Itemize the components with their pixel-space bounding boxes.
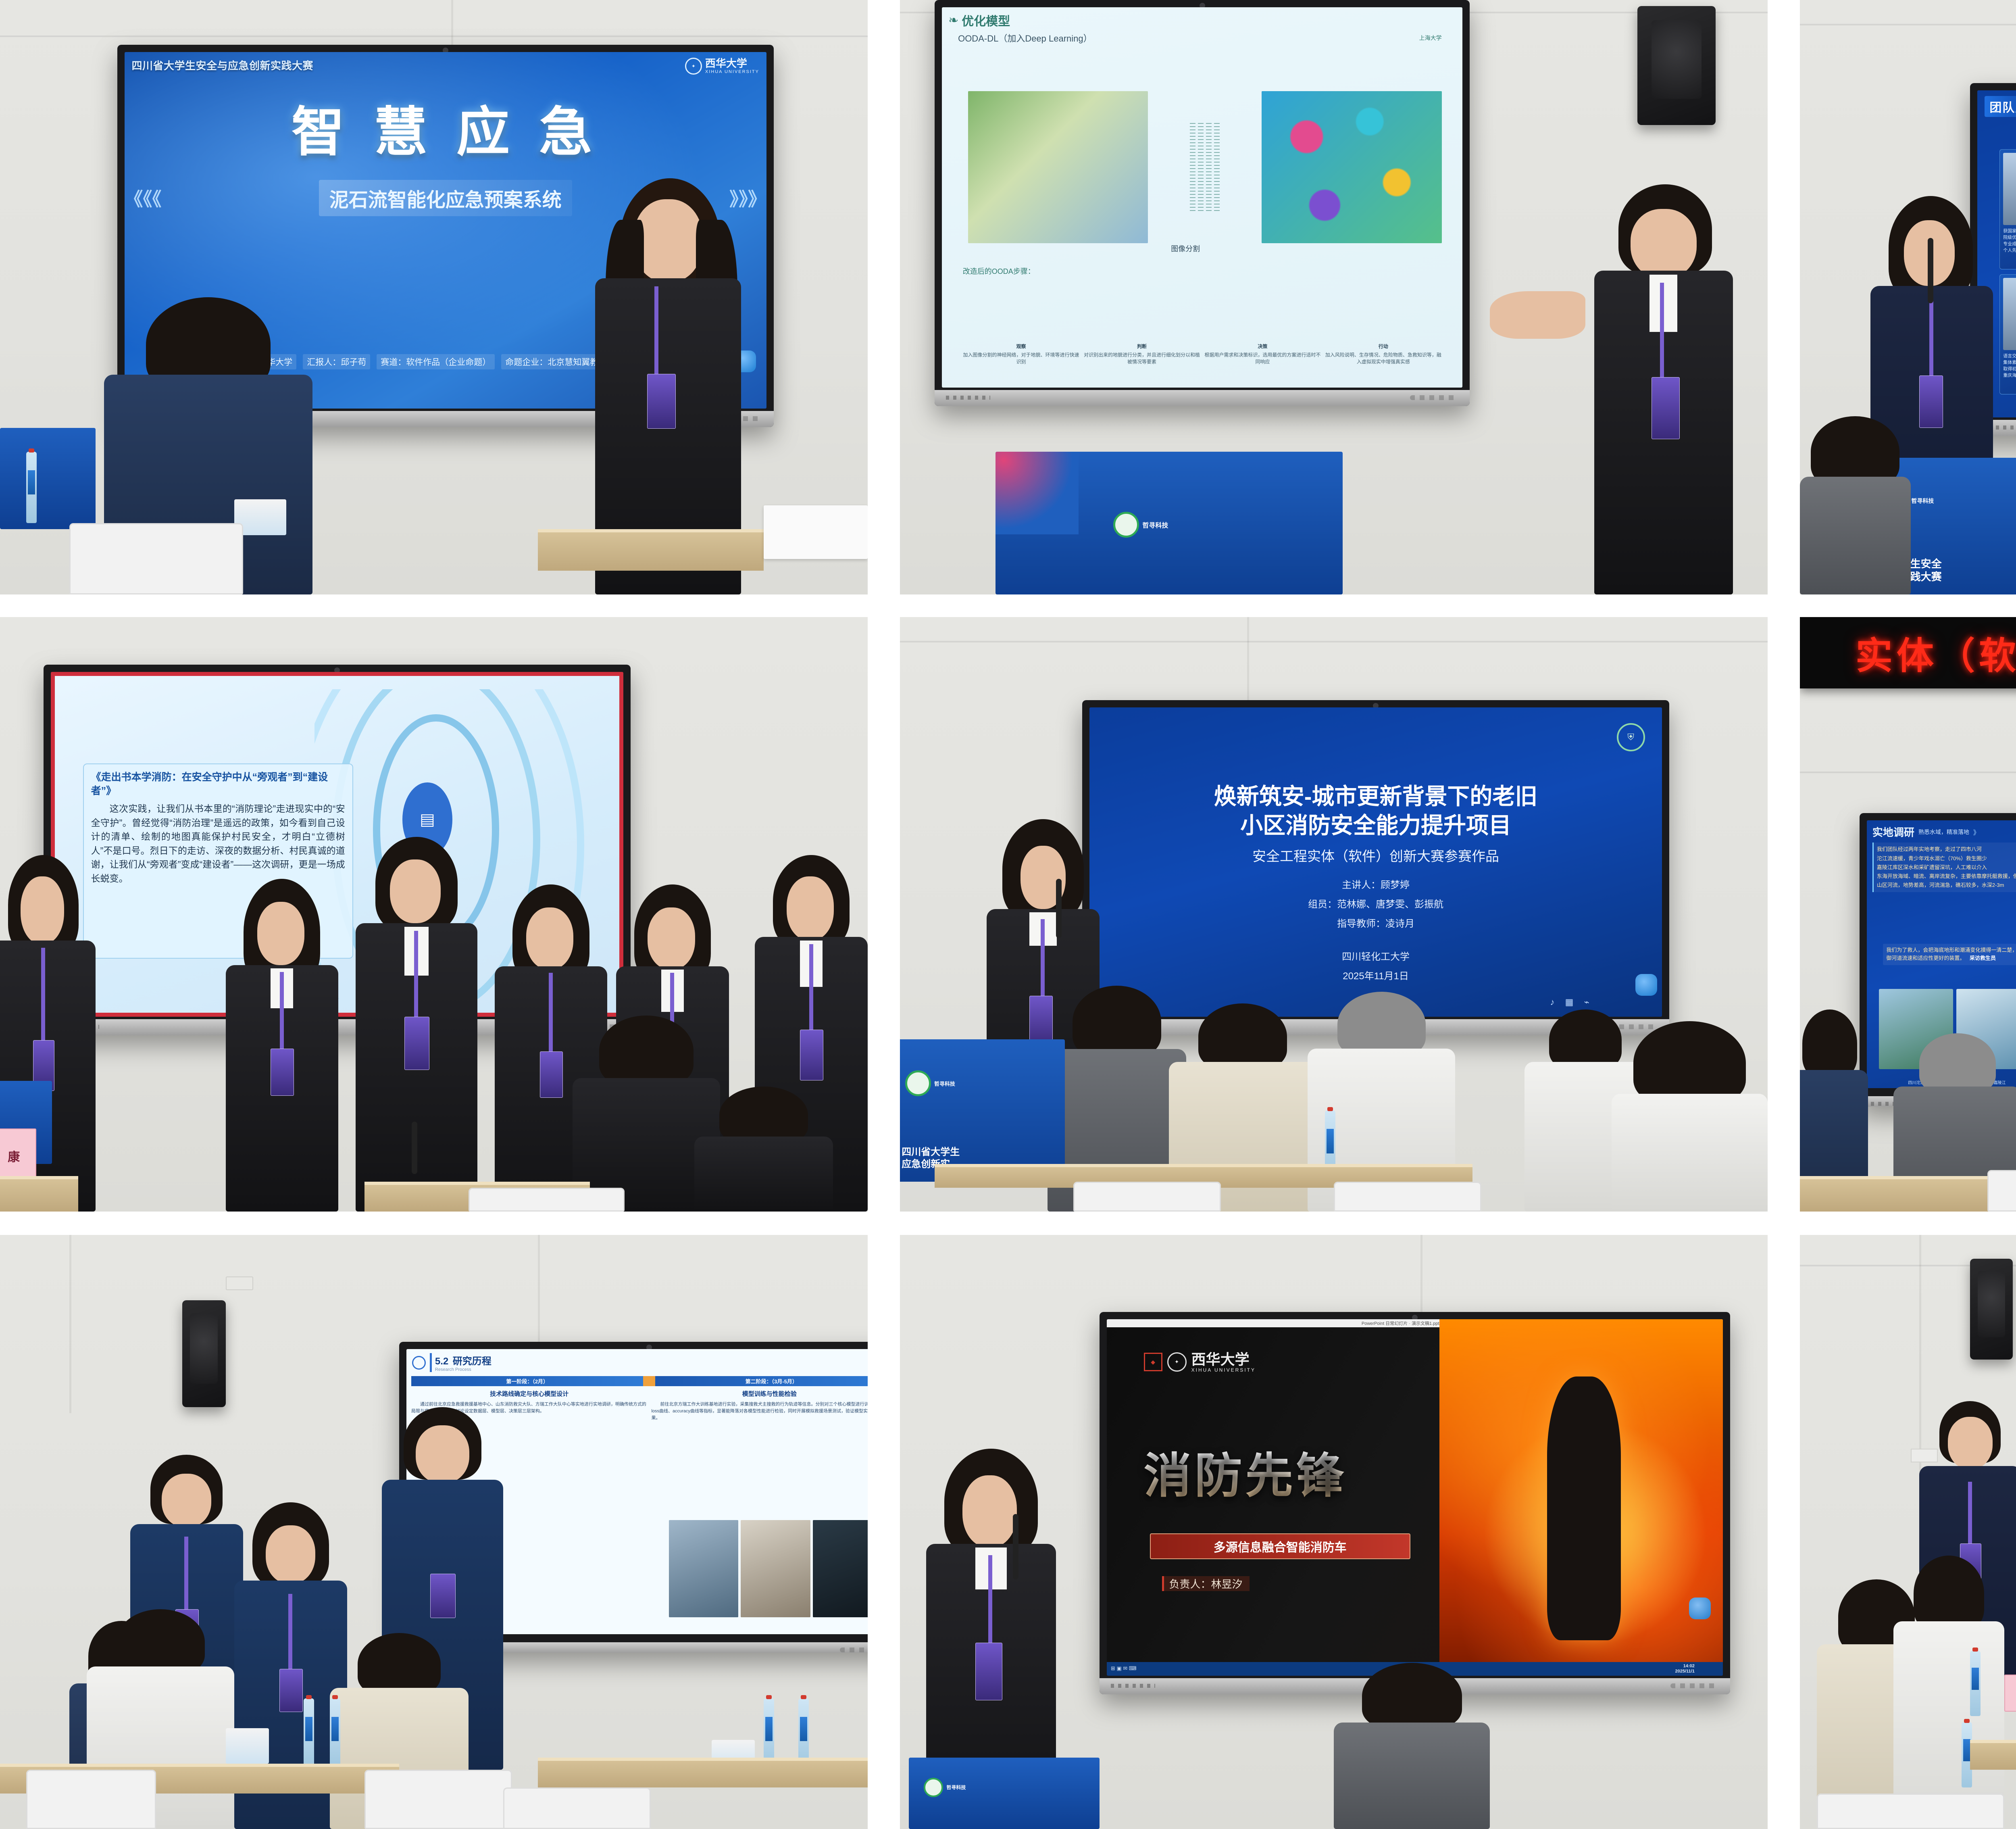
home-button-icon[interactable] bbox=[1635, 974, 1657, 996]
wall-socket bbox=[226, 1276, 254, 1290]
sponsor-name: 哲寻科技 bbox=[946, 1784, 966, 1791]
step-text: 对识别出来的地貌进行分类，并且进行细化划分以和植被情况等要素 bbox=[1083, 351, 1200, 365]
step-label: 行动 bbox=[1325, 343, 1441, 350]
name-card: 康 bbox=[0, 1128, 36, 1184]
interactive-whiteboard[interactable]: ⛨ 焕新筑安-城市更新背景下的老旧 小区消防安全能力提升项目 安全工程实体（软件… bbox=[1082, 700, 1669, 1035]
slide-title: 优化模型 bbox=[962, 11, 1010, 29]
slide-band: 多源信息融合智能消防车 bbox=[1150, 1533, 1410, 1559]
logo-name-cn: 西华大学 bbox=[705, 58, 759, 69]
photo-fire-pioneer: PowerPoint 日常幻灯片 · 演示文稿1.pptx - PowerPoi… bbox=[900, 1235, 1768, 1829]
participant-badge bbox=[647, 374, 676, 429]
audience-back bbox=[1334, 1663, 1490, 1829]
slide-title-line1: 焕新筑安-城市更新背景下的老旧 bbox=[1089, 782, 1662, 811]
slide-kicker: 四川省大学生安全与应急创新实践大赛 bbox=[132, 58, 314, 73]
member-card: 钟丽姿 产品总负责人 获国家励志奖学金 院级优秀共青团员 专业成绩前3% 个人先… bbox=[1999, 149, 2016, 269]
chevron-left-icon: 《《《 bbox=[125, 185, 162, 211]
participant-badge bbox=[1652, 377, 1680, 440]
logo-name-en: XIHUA UNIVERSITY bbox=[1191, 1368, 1256, 1373]
step-label: 观察 bbox=[963, 343, 1079, 350]
section-number: 5.2 bbox=[435, 1356, 448, 1367]
desk bbox=[538, 529, 764, 571]
participant-badge bbox=[540, 1051, 563, 1098]
collage-cell-9[interactable]: 四川省大学生安全与应急创新实践大赛 四川省大学生安全与应急创新实践大赛 应急先锋… bbox=[1784, 1220, 2016, 1829]
member-card: 李睿齐 市场负责人 语言交流能力突出 集体素质良好经验 取得初级会计师证 重庆海… bbox=[1999, 274, 2016, 394]
water-bottle bbox=[26, 452, 37, 523]
research-bullet: 沱江流速缓，青少年戏水溺亡（70%）救生圈少 bbox=[1877, 854, 2016, 863]
wall-speaker bbox=[182, 1300, 226, 1407]
aerial-photo bbox=[968, 91, 1148, 243]
judge-back bbox=[694, 1087, 833, 1212]
university-logo: ✦ 西华大学 XIHUA UNIVERSITY bbox=[685, 58, 759, 75]
slide-owner: 负责人：林昱汐 bbox=[1162, 1576, 1250, 1591]
logo-name-cn: 西华大学 bbox=[1191, 1351, 1256, 1368]
water-bottle bbox=[1970, 1651, 1981, 1716]
presenter-hand bbox=[1490, 291, 1585, 339]
collage-cell-4[interactable]: ▤ 《走出书本学消防：在安全守护中从“旁观者”到“建设者”》 这次实践，让我们从… bbox=[0, 610, 884, 1220]
chair bbox=[26, 1770, 156, 1829]
participant-badge bbox=[279, 1669, 303, 1712]
photo-collage: 四川省大学生安全与应急创新实践大赛 ✦ 西华大学 XIHUA UNIVERSIT… bbox=[0, 0, 2016, 1829]
collage-cell-3[interactable]: 团队成员 跨校多学科交叉融合，团队各展所长 ▣ 钟丽姿 产品总负责人 获国家励志… bbox=[1784, 0, 2016, 610]
chair bbox=[364, 1770, 512, 1829]
collage-cell-6[interactable]: 实体（软件）创新自选命题作品决赛答辩 实地调研 熟悉水域，精准落地 》 项目背景… bbox=[1784, 610, 2016, 1220]
slide-chip: 团队成员 bbox=[1985, 96, 2016, 117]
member-bullet: 语言交流能力突出 bbox=[2003, 352, 2016, 359]
microphone[interactable] bbox=[1928, 238, 1933, 303]
photo-research-process: 5.2 研究历程 Research Process 第一阶段：（2月） 第二阶段… bbox=[0, 1235, 868, 1829]
student bbox=[356, 837, 477, 1212]
wall-speaker bbox=[1970, 1259, 2013, 1360]
chair bbox=[469, 1188, 625, 1212]
member-bullet: 重庆海康威视科技有限公司实习经历 bbox=[2003, 372, 2016, 378]
photo-team-qa: ▤ 《走出书本学消防：在安全守护中从“旁观者”到“建设者”》 这次实践，让我们从… bbox=[0, 617, 868, 1212]
university-seal-icon: ⛨ bbox=[1617, 723, 1645, 751]
step-label: 判断 bbox=[1083, 343, 1200, 350]
diagram-caption: 图像分割 bbox=[1171, 243, 1200, 254]
process-photos bbox=[669, 1520, 868, 1617]
research-bullet: 东海开放海域、暗流、离岸流复杂，主要依靠摩托艇救援，但得依赖天气 bbox=[1877, 872, 2016, 881]
microphone[interactable] bbox=[1056, 879, 1062, 938]
microphone[interactable] bbox=[412, 1122, 417, 1174]
neural-network-diagram bbox=[1153, 108, 1257, 226]
green-seal-icon bbox=[905, 1070, 931, 1096]
slide-meta-presenter: 汇报人：邱子苟 bbox=[303, 354, 370, 369]
essay-body: 这次实践，让我们从书本里的“消防理论”走进现实中的“安全守护”。曾经觉得“消防治… bbox=[91, 802, 345, 885]
presentation-screen: ⛨ 焕新筑安-城市更新背景下的老旧 小区消防安全能力提升项目 安全工程实体（软件… bbox=[1089, 707, 1662, 1016]
phase-label: 第一阶段：（2月） bbox=[411, 1376, 644, 1386]
desk bbox=[1970, 1740, 2016, 1770]
segmentation-photo bbox=[1262, 91, 1441, 243]
chair bbox=[69, 523, 243, 594]
member-bullet: 取得初级会计师证 bbox=[2003, 365, 2016, 372]
sponsor-name: 哲寻科技 bbox=[1142, 520, 1168, 530]
member-bullet: 个人先进奖和优秀组织奖 bbox=[2003, 247, 2016, 253]
member-bullet: 获国家励志奖学金 bbox=[2003, 227, 2016, 234]
audience-back bbox=[1612, 1021, 1768, 1212]
step-text: 根据用户需求和决策标识，选用最优的方案进行适时不同响应 bbox=[1204, 351, 1321, 365]
sponsor-name: 哲寻科技 bbox=[934, 1080, 955, 1087]
university-seal-icon bbox=[412, 1356, 426, 1370]
participant-badge bbox=[800, 1030, 823, 1080]
seal-icon: ✦ bbox=[685, 58, 702, 75]
slide-title-line2: 小区消防安全能力提升项目 bbox=[1089, 811, 1662, 840]
slide-members: 组员：范林娜、唐梦雯、彭振航 bbox=[1089, 895, 1662, 914]
chair bbox=[503, 1787, 651, 1829]
logo-name-en: XIHUA UNIVERSITY bbox=[705, 69, 759, 74]
participant-badge bbox=[404, 1017, 429, 1070]
presenter bbox=[1577, 184, 1750, 594]
desk bbox=[1800, 1176, 2016, 1212]
photo-team-members: 团队成员 跨校多学科交叉融合，团队各展所长 ▣ 钟丽姿 产品总负责人 获国家励志… bbox=[1800, 0, 2016, 594]
water-bottle bbox=[330, 1698, 340, 1770]
member-photo bbox=[2003, 278, 2016, 350]
slide-title: 实地调研 bbox=[1872, 824, 1914, 839]
home-button-icon[interactable] bbox=[1689, 1598, 1711, 1619]
photo-smart-emergency: 四川省大学生安全与应急创新实践大赛 ✦ 西华大学 XIHUA UNIVERSIT… bbox=[0, 0, 868, 594]
audience-back bbox=[1893, 1556, 2004, 1829]
phase-text: 前往北京方瑞工作大训练基地进行实验，采集搜救犬主搜救的行为轨迹等信息。分别对三个… bbox=[651, 1401, 868, 1422]
slide-main-title: 智 慧 应 急 bbox=[125, 89, 766, 166]
interactive-whiteboard[interactable]: ❧ 优化模型 OODA-DL（加入Deep Learning） 上海大学 图像分… bbox=[935, 0, 1470, 406]
collage-cell-7[interactable]: 5.2 研究历程 Research Process 第一阶段：（2月） 第二阶段… bbox=[0, 1220, 884, 1829]
chair bbox=[1817, 1794, 2004, 1829]
tissue-box bbox=[226, 1728, 269, 1764]
presentation-screen: ❧ 优化模型 OODA-DL（加入Deep Learning） 上海大学 图像分… bbox=[942, 7, 1462, 388]
photo-police-cadets: 四川省大学生安全与应急创新实践大赛 四川省大学生安全与应急创新实践大赛 应急先锋… bbox=[1800, 1235, 2016, 1829]
participant-badge bbox=[271, 1049, 294, 1096]
collage-cell-2[interactable]: ❧ 优化模型 OODA-DL（加入Deep Learning） 上海大学 图像分… bbox=[884, 0, 1784, 610]
firefighter-photo bbox=[1547, 1376, 1621, 1640]
essay-title: 《走出书本学消防：在安全守护中从“旁观者”到“建设者”》 bbox=[91, 771, 345, 798]
slide-main-title: 消防先锋 bbox=[1144, 1437, 1347, 1506]
green-seal-icon bbox=[1113, 512, 1139, 538]
slide-advisor: 指导教师：凌诗月 bbox=[1089, 914, 1662, 934]
desk bbox=[0, 1176, 78, 1212]
slide-subtitle: 泥石流智能化应急预案系统 bbox=[319, 180, 572, 216]
slide-presenter: 主讲人：顾梦婷 bbox=[1089, 876, 1662, 895]
documents bbox=[764, 505, 868, 559]
research-bullet: 嘉陵江库区深水和采矿遗留深坑，人工难以介入 bbox=[1877, 863, 2016, 872]
interview-source: 采访救生员 bbox=[1970, 955, 1996, 961]
presentation-screen: PowerPoint 日常幻灯片 · 演示文稿1.pptx - PowerPoi… bbox=[1107, 1319, 1723, 1676]
audience-back bbox=[1800, 416, 1911, 594]
fire-background bbox=[1439, 1319, 1723, 1676]
participant-badge bbox=[1919, 375, 1943, 428]
member-bullet: 专业成绩前3% bbox=[2003, 240, 2016, 247]
phase-heading: 技术路线确定与核心模型设计 bbox=[411, 1389, 648, 1399]
status-icons: ♪ ▦ ⌁ bbox=[1550, 997, 1593, 1007]
university-seal-icon: ✦ bbox=[1167, 1352, 1187, 1372]
stage-banner-board: 哲寻科技 bbox=[996, 452, 1343, 594]
step-text: 加入图像分割的神经网络，对于地貌、环境等进行快速识别 bbox=[963, 351, 1079, 365]
stage-banner-board: 哲寻科技 四川省大学生应急创新实 bbox=[900, 1039, 1065, 1182]
interview-quote: 我们为了救人，会把海底地形和潮涌变化摸得一清二楚，真的很需要一款更智能、能更好抵… bbox=[1886, 947, 2016, 961]
taskbar-time: 14:02 bbox=[1683, 1664, 1695, 1668]
name-card: 评委席 bbox=[2004, 1675, 2016, 1712]
step-text: 加入风险说明、生存情况、危险物质、急救知识等，融入虚拟现实中增强真实感 bbox=[1325, 351, 1441, 365]
green-seal-icon bbox=[924, 1778, 943, 1797]
chair bbox=[1987, 1170, 2016, 1212]
participant-badge bbox=[430, 1574, 455, 1618]
chair bbox=[1073, 1182, 1221, 1212]
slide-subtitle: OODA-DL（加入Deep Learning） bbox=[942, 29, 1462, 44]
phase-label: 第二阶段：（3月-5月） bbox=[655, 1376, 868, 1386]
interactive-whiteboard[interactable]: PowerPoint 日常幻灯片 · 演示文稿1.pptx - PowerPoi… bbox=[1100, 1312, 1730, 1694]
sponsor-name: 哲寻科技 bbox=[1911, 497, 1934, 505]
college-badge-icon: ◆ bbox=[1144, 1353, 1162, 1371]
stage-banner-board bbox=[0, 428, 96, 529]
slide-school: 四川轻化工大学 bbox=[1089, 947, 1662, 967]
member-photo bbox=[2003, 153, 2016, 225]
stage-banner-board: 哲寻科技 bbox=[909, 1758, 1100, 1829]
water-bottle bbox=[304, 1698, 314, 1770]
slide-date: 2025年11月1日 bbox=[1089, 967, 1662, 986]
member-bullet: 集体素质良好经验 bbox=[2003, 359, 2016, 365]
led-banner-text: 实体（软件）创新自选命题作品决赛答辩 bbox=[1856, 626, 2016, 680]
collage-cell-8[interactable]: PowerPoint 日常幻灯片 · 演示文稿1.pptx - PowerPoi… bbox=[884, 1220, 1784, 1829]
desk bbox=[538, 1758, 868, 1787]
participant-badge bbox=[975, 1643, 1002, 1700]
wall-speaker bbox=[1637, 6, 1716, 125]
section-label: 改造后的OODA步骤： bbox=[963, 266, 1035, 276]
taskbar-date: 2025/11/1 bbox=[1675, 1669, 1695, 1674]
collage-cell-1[interactable]: 四川省大学生安全与应急创新实践大赛 ✦ 西华大学 XIHUA UNIVERSIT… bbox=[0, 0, 884, 610]
student bbox=[226, 879, 339, 1212]
slide-meta-track: 赛道：软件作品（企业命题） bbox=[377, 354, 495, 369]
photo-field-research: 实体（软件）创新自选命题作品决赛答辩 实地调研 熟悉水域，精准落地 》 项目背景… bbox=[1800, 617, 2016, 1212]
section-title: 研究历程 bbox=[453, 1356, 492, 1367]
chair bbox=[1334, 1182, 1481, 1212]
leaf-icon: ❧ bbox=[948, 13, 958, 27]
member-bullet: 院级优秀共青团员 bbox=[2003, 234, 2016, 240]
collage-cell-5[interactable]: ⛨ 焕新筑安-城市更新背景下的老旧 小区消防安全能力提升项目 安全工程实体（软件… bbox=[884, 610, 1784, 1220]
step-label: 决策 bbox=[1204, 343, 1321, 350]
microphone[interactable] bbox=[1013, 1514, 1018, 1579]
whiteboard-controls[interactable] bbox=[935, 390, 1470, 406]
section-title-en: Research Process bbox=[435, 1367, 492, 1372]
university-logo: 上海大学 bbox=[1419, 34, 1442, 42]
research-bullet: 我们团队经过两年实地考察，走过了四市八河 bbox=[1877, 845, 2016, 854]
led-banner: 实体（软件）创新自选命题作品决赛答辩 bbox=[1800, 617, 2016, 688]
photo-ooda-model: ❧ 优化模型 OODA-DL（加入Deep Learning） 上海大学 图像分… bbox=[900, 0, 1768, 594]
photo-huanxin-zhuan: ⛨ 焕新筑安-城市更新背景下的老旧 小区消防安全能力提升项目 安全工程实体（软件… bbox=[900, 617, 1768, 1212]
phase-heading: 模型训练与性能检验 bbox=[651, 1389, 868, 1399]
slide-subtitle: 熟悉水域，精准落地 bbox=[1918, 828, 1969, 836]
slide-subtitle: 安全工程实体（软件）创新大赛参赛作品 bbox=[1089, 845, 1662, 865]
research-bullet: 山区河流，地势差高，河流湍急，礁石较多，水深2-3m bbox=[1877, 881, 2016, 890]
